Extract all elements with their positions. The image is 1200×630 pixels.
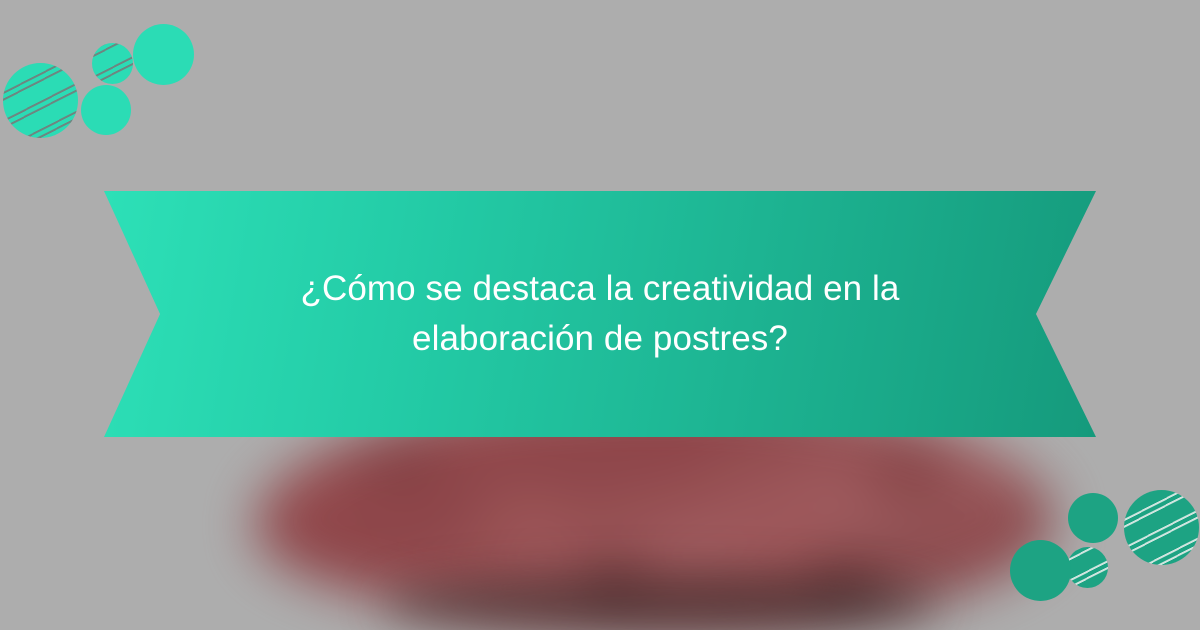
food-photo-shadow [380, 575, 940, 630]
circle-large-plain-icon [133, 24, 194, 85]
circle-large-striped-icon [3, 63, 78, 138]
circle-large-striped-icon [1124, 490, 1199, 565]
social-card-canvas: ¿Cómo se destaca la creatividad en la el… [0, 0, 1200, 630]
circle-large-plain-icon [1010, 540, 1071, 601]
circle-medium-plain-icon [1068, 493, 1118, 543]
headline-banner: ¿Cómo se destaca la creatividad en la el… [104, 191, 1096, 437]
banner-headline: ¿Cómo se destaca la creatividad en la el… [250, 264, 950, 363]
circle-medium-plain-icon [81, 85, 131, 135]
circle-small-striped-icon [1067, 547, 1108, 588]
circle-small-striped-icon [92, 43, 133, 84]
